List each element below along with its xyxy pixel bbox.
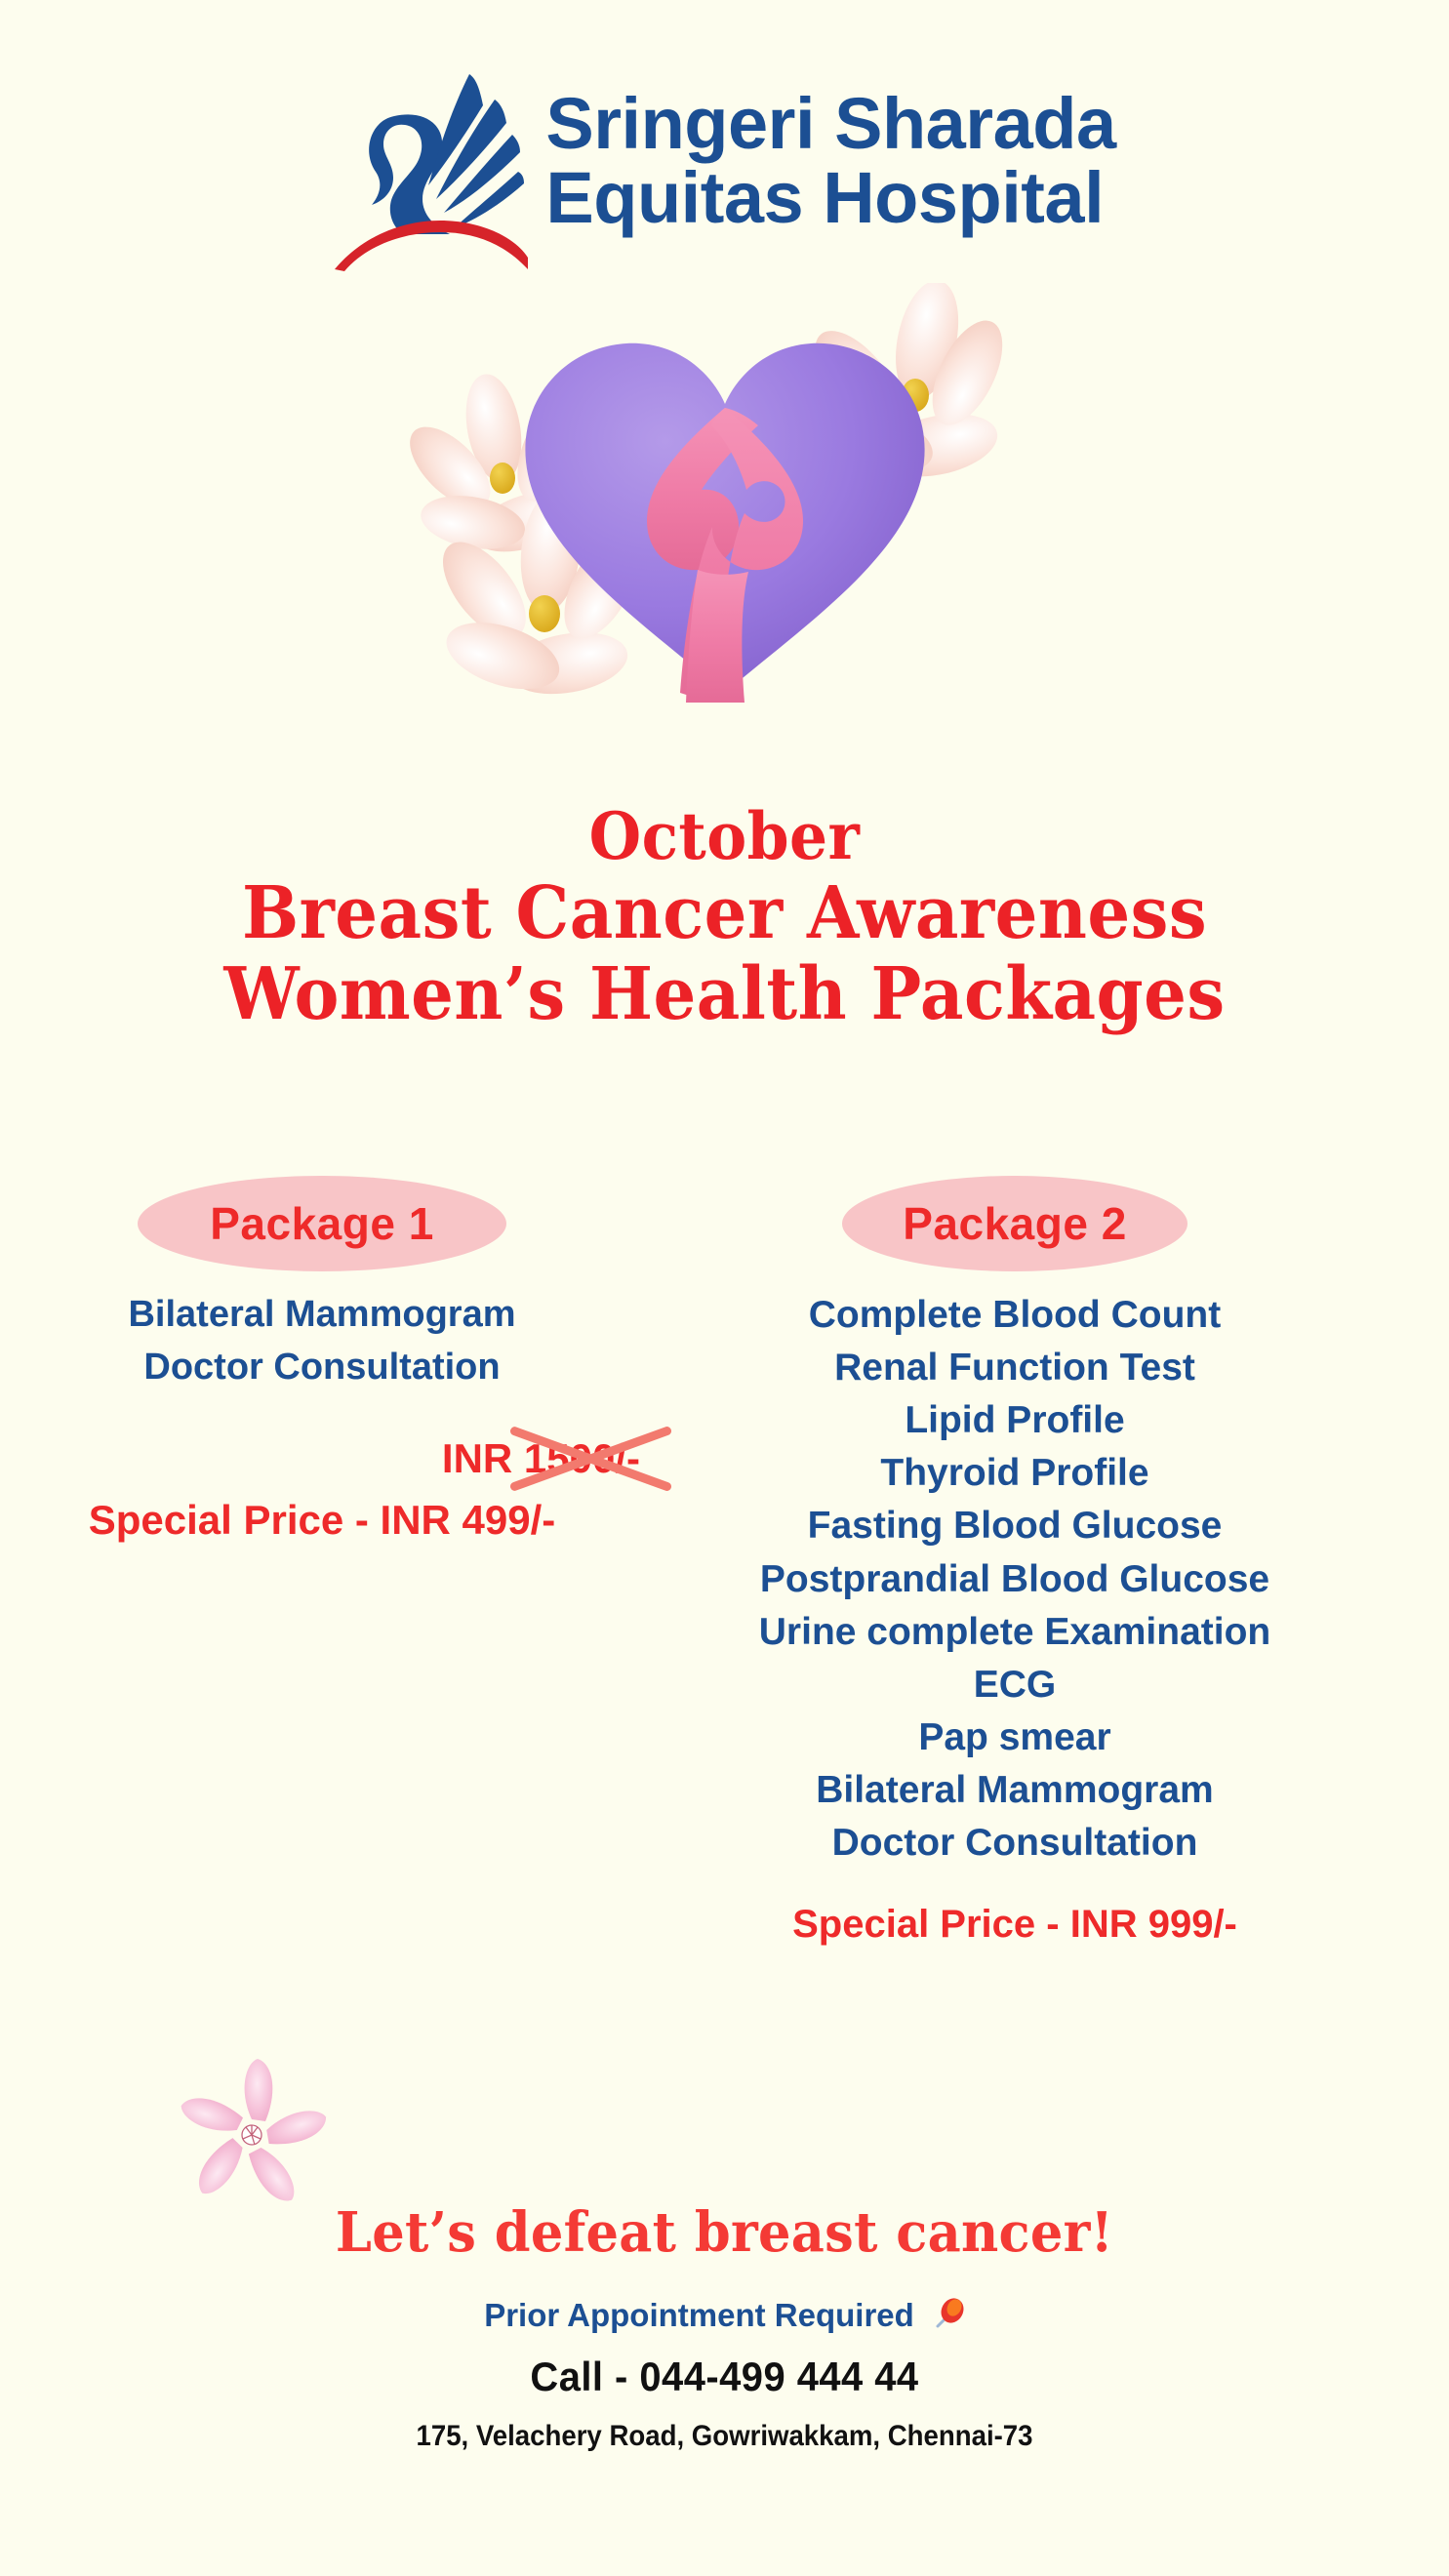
package-1-items: Bilateral Mammogram Doctor Consultation bbox=[0, 1295, 644, 1388]
list-item: Bilateral Mammogram bbox=[0, 1295, 644, 1335]
title-packages: Women’s Health Packages bbox=[51, 954, 1398, 1036]
package-1-original-price: INR 1500/- bbox=[442, 1438, 640, 1479]
tagline: Let’s defeat breast cancer! bbox=[44, 2203, 1406, 2264]
appointment-note: Prior Appointment Required bbox=[0, 2297, 1449, 2336]
list-item: Complete Blood Count bbox=[644, 1295, 1386, 1336]
list-item: Pap smear bbox=[644, 1717, 1386, 1758]
package-2-badge: Package 2 bbox=[842, 1176, 1187, 1271]
list-item: Renal Function Test bbox=[644, 1348, 1386, 1389]
list-item: Doctor Consultation bbox=[0, 1348, 644, 1388]
title-awareness: Breast Cancer Awareness bbox=[51, 873, 1398, 955]
packages-section: Package 1 Bilateral Mammogram Doctor Con… bbox=[0, 1176, 1449, 1947]
list-item: ECG bbox=[644, 1665, 1386, 1706]
poster-footer: Let’s defeat breast cancer! Prior Appoin… bbox=[0, 2203, 1449, 2453]
address: 175, Velachery Road, Gowriwakkam, Chenna… bbox=[58, 2420, 1390, 2453]
brand-name: Sringeri Sharada Equitas Hospital bbox=[545, 87, 1115, 235]
hero-illustration bbox=[0, 283, 1449, 771]
call-number[interactable]: Call - 044-499 444 44 bbox=[36, 2354, 1413, 2400]
package-1-badge: Package 1 bbox=[138, 1176, 506, 1271]
brand-name-line1: Sringeri Sharada bbox=[545, 87, 1115, 161]
pushpin-icon bbox=[926, 2297, 965, 2336]
title-month: October bbox=[51, 800, 1398, 873]
swan-logo-icon bbox=[333, 62, 528, 272]
list-item: Lipid Profile bbox=[644, 1400, 1386, 1441]
brand-name-line2: Equitas Hospital bbox=[545, 161, 1115, 235]
package-2-items: Complete Blood Count Renal Function Test… bbox=[644, 1295, 1386, 1864]
poster-title: October Breast Cancer Awareness Women’s … bbox=[0, 800, 1449, 1036]
package-1-original-price-row: INR 1500/- bbox=[0, 1438, 644, 1479]
list-item: Fasting Blood Glucose bbox=[644, 1506, 1386, 1547]
package-1-column: Package 1 Bilateral Mammogram Doctor Con… bbox=[0, 1176, 644, 1544]
package-2-column: Package 2 Complete Blood Count Renal Fun… bbox=[644, 1176, 1386, 1947]
list-item: Postprandial Blood Glucose bbox=[644, 1559, 1386, 1600]
package-1-special-price: Special Price - INR 499/- bbox=[0, 1497, 644, 1544]
appointment-text: Prior Appointment Required bbox=[484, 2298, 914, 2333]
list-item: Thyroid Profile bbox=[644, 1453, 1386, 1494]
list-item: Urine complete Examination bbox=[644, 1612, 1386, 1653]
list-item: Bilateral Mammogram bbox=[644, 1770, 1386, 1811]
package-2-special-price: Special Price - INR 999/- bbox=[644, 1903, 1386, 1947]
heart-ribbon-flowers-illustration bbox=[354, 283, 1096, 742]
brand-header: Sringeri Sharada Equitas Hospital bbox=[0, 39, 1449, 283]
list-item: Doctor Consultation bbox=[644, 1823, 1386, 1864]
